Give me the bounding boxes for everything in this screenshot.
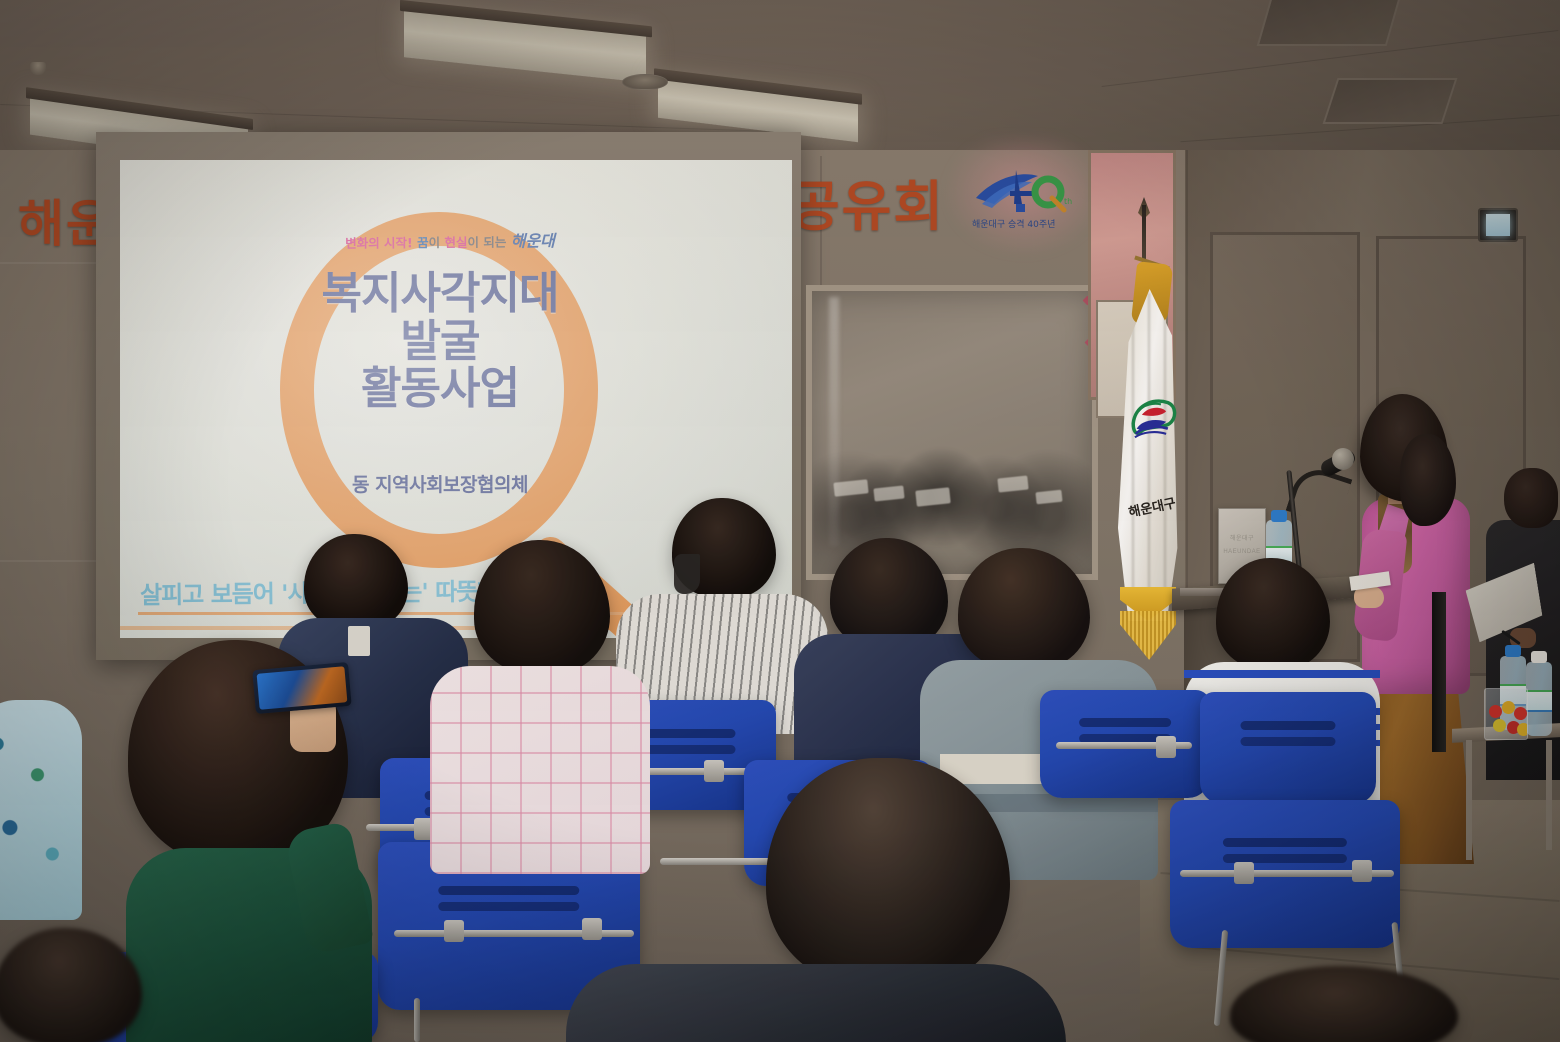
control-panel-screen bbox=[1486, 214, 1510, 236]
candy-jar bbox=[1484, 688, 1528, 740]
slide-subtitle: 동 지역사회보장협의체 bbox=[230, 470, 650, 497]
chair-link-clip bbox=[1234, 862, 1254, 884]
stripe bbox=[1184, 670, 1380, 678]
bottle-cap-icon bbox=[1505, 645, 1521, 657]
slogan-part-4: 현실 bbox=[444, 235, 467, 250]
list-item bbox=[566, 758, 1066, 1042]
slide-title-line-3: 활동사업 bbox=[230, 365, 650, 413]
attendee-head bbox=[304, 534, 408, 630]
candy-piece bbox=[1514, 707, 1527, 720]
attendee-head bbox=[0, 928, 142, 1042]
face-mask-icon bbox=[674, 554, 700, 594]
haeundae-gu-emblem-icon bbox=[1128, 393, 1180, 447]
monitor-edge bbox=[1432, 592, 1446, 752]
attendee-head bbox=[1230, 966, 1458, 1042]
ceiling-vent bbox=[1323, 78, 1458, 124]
lectern-nameplate-text: 해운대구 HAEUNDAE bbox=[1219, 533, 1265, 559]
attendee-head bbox=[766, 758, 1010, 988]
presenter-hair-back bbox=[1400, 434, 1456, 526]
slogan-part-2: 꿈 bbox=[417, 235, 429, 250]
conference-room-photo: 해운 공유회 th 해운대구 승격 40주년 변화의 시작! 꿈이 현실이 되는… bbox=[0, 0, 1560, 1042]
chair-link-clip bbox=[1352, 860, 1372, 882]
sprinkler-head bbox=[30, 62, 46, 75]
list-item bbox=[0, 700, 82, 920]
wall-seam bbox=[0, 560, 100, 562]
table-water-bottle bbox=[1526, 662, 1552, 736]
attendee-head bbox=[474, 540, 610, 674]
wall-control-panel[interactable] bbox=[1478, 208, 1518, 242]
microphone-head-icon bbox=[1332, 448, 1354, 470]
list-item bbox=[0, 928, 144, 1042]
phone-screen bbox=[257, 666, 348, 710]
slide-slogan: 변화의 시작! 꿈이 현실이 되는 해운대 bbox=[300, 227, 600, 253]
slogan-part-1: 변화의 시작! bbox=[345, 235, 413, 250]
table-leg bbox=[1466, 740, 1472, 860]
list-item bbox=[104, 640, 404, 1042]
slide-title: 복지사각지대 발굴 활동사업 bbox=[230, 270, 650, 413]
anniversary-logo: th 해운대구 승격 40주년 bbox=[972, 164, 1072, 230]
slide-title-line-2: 발굴 bbox=[230, 318, 650, 366]
bottle-cap-icon bbox=[1271, 510, 1287, 522]
attendee-torso bbox=[566, 964, 1066, 1042]
bottle-cap-icon bbox=[1531, 651, 1547, 663]
whiteboard-glare bbox=[829, 297, 839, 546]
anniversary-caption: 해운대구 승격 40주년 bbox=[972, 217, 1072, 230]
flag-fold bbox=[1164, 307, 1166, 599]
attendee-head bbox=[1216, 558, 1330, 670]
slogan-part-3: 이 bbox=[429, 235, 445, 250]
candy-piece bbox=[1517, 723, 1528, 736]
wall-seam bbox=[0, 262, 96, 264]
chair-link-clip bbox=[1156, 736, 1176, 758]
smartphone-icon[interactable] bbox=[252, 662, 351, 714]
chair[interactable] bbox=[1200, 692, 1376, 804]
chair-link-clip bbox=[444, 920, 464, 942]
ceiling-speaker bbox=[622, 74, 668, 90]
slogan-part-5: 이 되는 bbox=[467, 235, 510, 250]
ceiling-vent bbox=[1257, 0, 1404, 46]
assistant-head bbox=[1504, 468, 1558, 528]
svg-text:th: th bbox=[1064, 197, 1072, 206]
slide-title-line-1: 복지사각지대 bbox=[230, 270, 650, 318]
candy-piece bbox=[1489, 705, 1502, 718]
slogan-brand: 해운대 bbox=[511, 231, 555, 250]
lectern-sign-line-1: 해운대구 bbox=[1219, 533, 1265, 546]
anniversary-logo-mark: th bbox=[972, 164, 1072, 216]
wall-banner-right: 공유회 bbox=[790, 162, 945, 241]
list-item bbox=[1230, 966, 1460, 1042]
bottle-label bbox=[1526, 690, 1552, 712]
candy-piece bbox=[1493, 719, 1506, 732]
table-leg bbox=[1546, 740, 1552, 850]
chair-leg bbox=[414, 998, 420, 1042]
attendee-torso bbox=[0, 700, 82, 920]
attendee-head bbox=[958, 548, 1090, 670]
